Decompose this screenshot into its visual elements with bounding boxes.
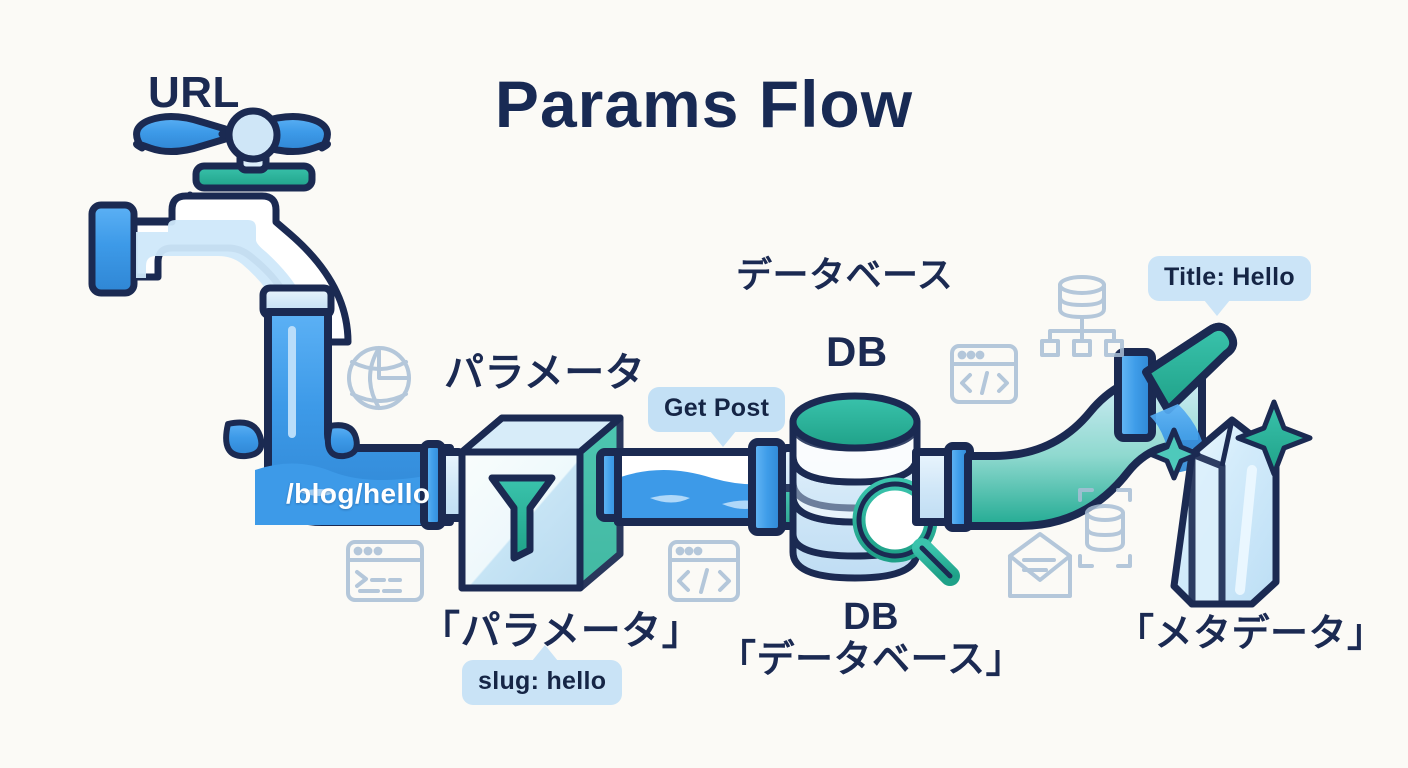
get-post-badge-text: Get Post: [664, 394, 769, 422]
label-params-quoted: 「パラメータ」: [420, 598, 702, 656]
code-window-icon-left: [670, 542, 738, 600]
code-window-icon-right: [952, 346, 1016, 402]
label-db-quoted: DB 「データベース」: [718, 596, 1024, 681]
label-url: URL: [148, 68, 240, 118]
globe-chart-icon: [349, 348, 409, 408]
envelope-icon: [1010, 534, 1070, 596]
get-post-badge: Get Post: [648, 387, 785, 432]
pipe-url-label: /blog/hello: [286, 478, 430, 510]
database-tree-icon: [1042, 277, 1122, 355]
label-database-top: データベース: [736, 246, 953, 298]
label-db-top: DB: [826, 328, 888, 376]
badge-tail: [532, 645, 558, 661]
slug-hello-badge: slug: hello: [462, 660, 622, 705]
pipe-segment-params: [600, 442, 816, 532]
label-params-top: パラメータ: [444, 340, 645, 398]
slug-hello-badge-text: slug: hello: [478, 667, 606, 695]
badge-tail: [1204, 300, 1230, 316]
diagram-canvas: Params Flow URL パラメータ データベース DB 「パラメータ」 …: [0, 0, 1408, 768]
title-hello-badge: Title: Hello: [1148, 256, 1311, 301]
label-db-quoted-line2: 「データベース」: [718, 639, 1024, 681]
label-metadata-quoted: 「メタデータ」: [1116, 602, 1386, 657]
label-db-quoted-line1: DB: [718, 596, 1024, 639]
badge-tail: [710, 431, 736, 447]
title-hello-badge-text: Title: Hello: [1164, 263, 1295, 291]
faucet-icon: [92, 111, 348, 342]
terminal-window-icon: [348, 542, 422, 600]
